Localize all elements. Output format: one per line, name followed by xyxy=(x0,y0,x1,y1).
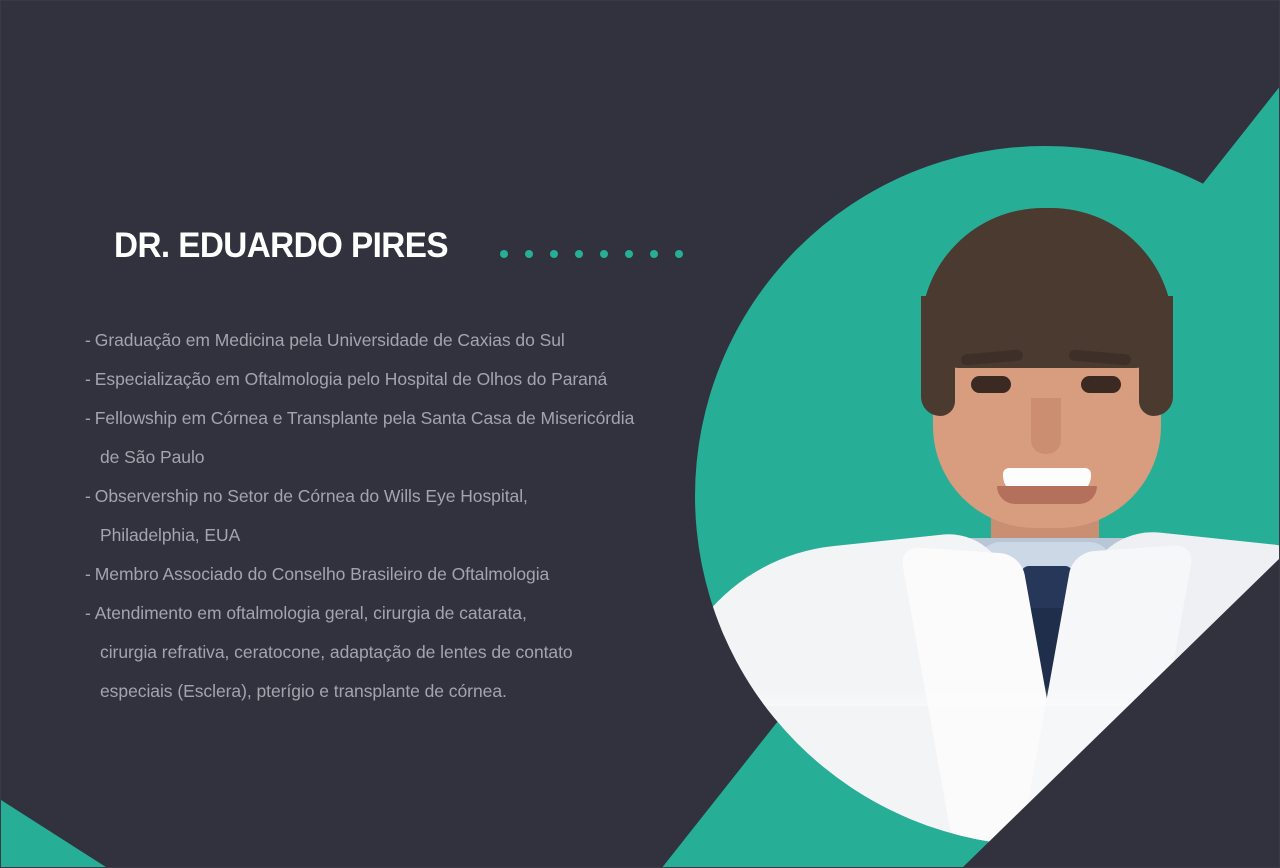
credential-text: Philadelphia, EUA xyxy=(100,525,240,545)
decor-dot xyxy=(550,250,558,258)
credential-text: especiais (Esclera), pterígio e transpla… xyxy=(100,681,507,701)
credential-line: -Fellowship em Córnea e Transplante pela… xyxy=(85,399,725,438)
decor-dot xyxy=(650,250,658,258)
decor-dot xyxy=(625,250,633,258)
bullet-dash: - xyxy=(85,486,91,506)
hospital-logo: Hospital da Cruz Vermelha xyxy=(1189,758,1280,804)
bullet-dash: - xyxy=(85,369,91,389)
credential-line: -Atendimento em oftalmologia geral, ciru… xyxy=(85,594,725,633)
hospital-logo-text: Hospital da Cruz Vermelha xyxy=(1242,765,1280,798)
decor-dot xyxy=(600,250,608,258)
credentials-list: -Graduação em Medicina pela Universidade… xyxy=(85,321,725,711)
portrait: Dr. Eduardo Pires Hospital da Cruz Verme… xyxy=(695,146,1280,846)
credential-line: de São Paulo xyxy=(85,438,725,477)
dot-decoration xyxy=(500,250,683,258)
credential-line: -Membro Associado do Conselho Brasileiro… xyxy=(85,555,725,594)
credential-text: Graduação em Medicina pela Universidade … xyxy=(95,330,565,350)
hospital-logo-icon xyxy=(1189,758,1235,804)
decor-dot xyxy=(525,250,533,258)
bullet-dash: - xyxy=(85,603,91,623)
decor-dot xyxy=(675,250,683,258)
decor-dot xyxy=(575,250,583,258)
credential-line: especiais (Esclera), pterígio e transpla… xyxy=(85,672,725,711)
slide-canvas: Dr. Eduardo Pires Hospital da Cruz Verme… xyxy=(0,0,1280,868)
credential-text: Observership no Setor de Córnea do Wills… xyxy=(95,486,528,506)
credential-text: de São Paulo xyxy=(100,447,205,467)
bullet-dash: - xyxy=(85,564,91,584)
text-column: DR. EDUARDO PIRES -Graduação em Medicina… xyxy=(1,1,721,868)
credential-text: Membro Associado do Conselho Brasileiro … xyxy=(95,564,549,584)
bullet-dash: - xyxy=(85,330,91,350)
credential-text: cirurgia refrativa, ceratocone, adaptaçã… xyxy=(100,642,573,662)
doctor-photo: Dr. Eduardo Pires Hospital da Cruz Verme… xyxy=(695,146,1280,846)
credential-line: cirurgia refrativa, ceratocone, adaptaçã… xyxy=(85,633,725,672)
eye-right xyxy=(1081,376,1121,393)
credential-line: -Graduação em Medicina pela Universidade… xyxy=(85,321,725,360)
hair-side-right xyxy=(1139,296,1173,416)
credential-line: Philadelphia, EUA xyxy=(85,516,725,555)
credential-text: Fellowship em Córnea e Transplante pela … xyxy=(95,408,634,428)
credential-text: Atendimento em oftalmologia geral, cirur… xyxy=(95,603,527,623)
hair-side-left xyxy=(921,296,955,416)
bullet-dash: - xyxy=(85,408,91,428)
portrait-circle-mask: Dr. Eduardo Pires Hospital da Cruz Verme… xyxy=(695,146,1280,846)
page-title: DR. EDUARDO PIRES xyxy=(114,228,448,263)
credential-line: -Especialização em Oftalmologia pelo Hos… xyxy=(85,360,725,399)
title-row: DR. EDUARDO PIRES xyxy=(114,228,683,263)
credential-line: -Observership no Setor de Córnea do Will… xyxy=(85,477,725,516)
eye-left xyxy=(971,376,1011,393)
nose xyxy=(1031,398,1061,454)
credential-text: Especialização em Oftalmologia pelo Hosp… xyxy=(95,369,607,389)
decor-dot xyxy=(500,250,508,258)
lower-lip xyxy=(997,486,1097,504)
coat-embroidery-text: Dr. Eduardo Pires xyxy=(1191,704,1280,716)
hair xyxy=(921,208,1173,368)
